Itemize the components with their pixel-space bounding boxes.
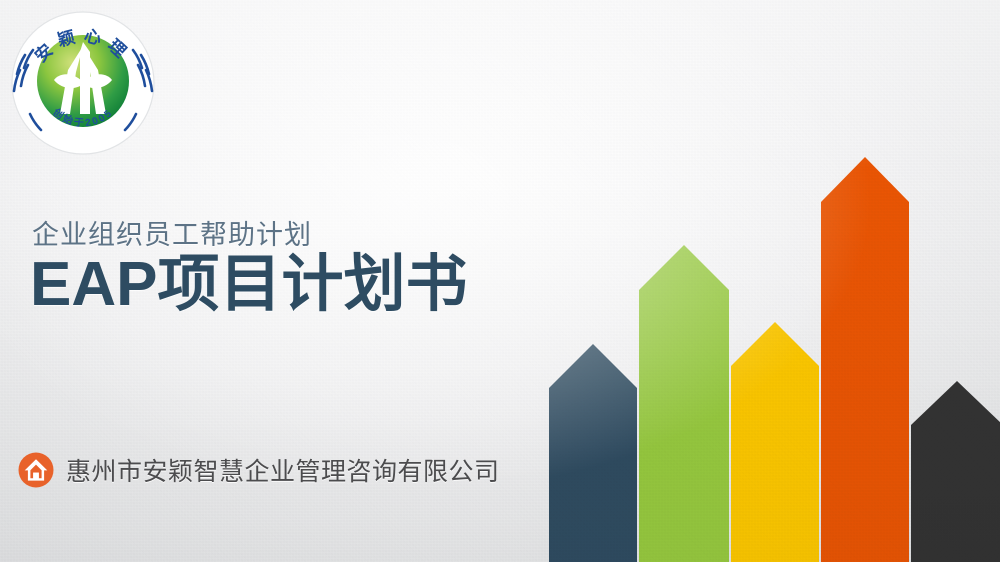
page-title: EAP项目计划书 — [30, 252, 467, 317]
arrow-bar-3 — [731, 322, 819, 562]
arrow-bar-5 — [911, 381, 1000, 562]
arrow-bar-4 — [821, 157, 909, 562]
slide-subtitle: 企业组织员工帮助计划 — [32, 213, 312, 252]
arrow-bar-2 — [639, 245, 729, 562]
presentation-title-slide: 安颖心理 创始于2005 企业组织员工帮助计划 EAP项目计划书 惠州市安颖智慧… — [0, 0, 1000, 562]
home-icon — [18, 452, 54, 488]
arrow-bar-1 — [549, 344, 637, 562]
company-logo: 安颖心理 创始于2005 — [8, 8, 158, 158]
company-name: 惠州市安颖智慧企业管理咨询有限公司 — [66, 452, 500, 488]
company-footer: 惠州市安颖智慧企业管理咨询有限公司 — [18, 452, 500, 488]
